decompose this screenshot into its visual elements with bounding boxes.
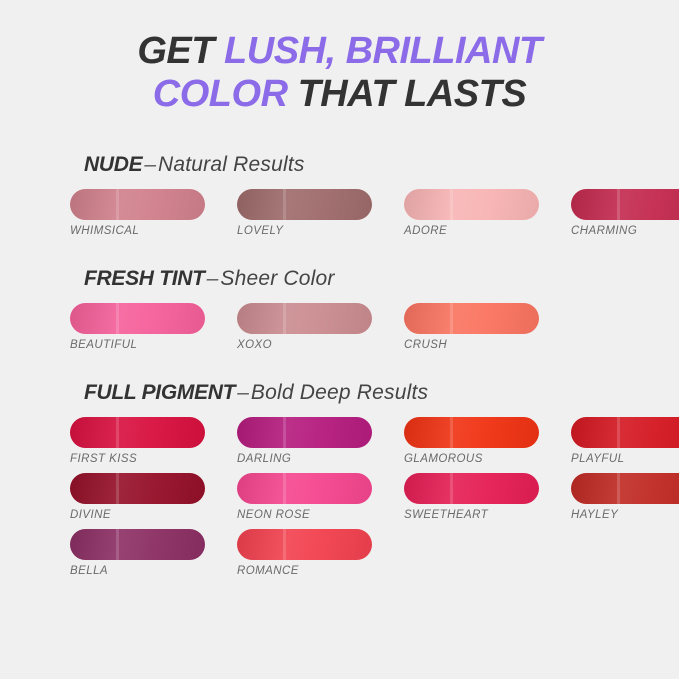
swatch-cell-divine[interactable]: DIVINE bbox=[70, 473, 205, 521]
swatch-pill[interactable] bbox=[237, 417, 372, 448]
swatch-cell-bella[interactable]: BELLA bbox=[70, 529, 205, 577]
swatch-label: XOXO bbox=[237, 339, 372, 351]
swatch-row: DIVINE NEON ROSE SWEETHEART HAYLEY bbox=[0, 473, 679, 521]
section-separator: – bbox=[142, 153, 158, 176]
lipstick-shade-chart: GET LUSH, BRILLIANT COLOR THAT LASTS NUD… bbox=[0, 0, 679, 679]
swatch-cell-whimsical[interactable]: WHIMSICAL bbox=[70, 189, 205, 237]
swatch-cell-romance[interactable]: ROMANCE bbox=[237, 529, 372, 577]
headline-get: GET bbox=[137, 30, 224, 72]
swatch-pill[interactable] bbox=[404, 189, 539, 220]
swatch-pill[interactable] bbox=[404, 303, 539, 334]
swatch-pill[interactable] bbox=[571, 473, 679, 504]
swatch-pill[interactable] bbox=[571, 189, 679, 220]
swatch-cell-lovely[interactable]: LOVELY bbox=[237, 189, 372, 237]
swatch-pill[interactable] bbox=[70, 473, 205, 504]
swatch-pill[interactable] bbox=[237, 189, 372, 220]
swatch-label: NEON ROSE bbox=[237, 509, 372, 521]
swatch-label: SWEETHEART bbox=[404, 509, 539, 521]
section-name: FULL PIGMENT bbox=[84, 381, 235, 404]
swatch-label: DARLING bbox=[237, 453, 372, 465]
swatch-row: BEAUTIFUL XOXO CRUSH bbox=[0, 303, 679, 351]
swatch-pill[interactable] bbox=[237, 303, 372, 334]
swatch-cell-crush[interactable]: CRUSH bbox=[404, 303, 539, 351]
headline-line-2: COLOR THAT LASTS bbox=[0, 73, 679, 116]
swatch-cell-first-kiss[interactable]: FIRST KISS bbox=[70, 417, 205, 465]
section-subtitle: Sheer Color bbox=[220, 267, 334, 290]
section-subtitle: Bold Deep Results bbox=[251, 381, 428, 404]
swatch-cell-hayley[interactable]: HAYLEY bbox=[571, 473, 679, 521]
page-title: GET LUSH, BRILLIANT COLOR THAT LASTS bbox=[0, 0, 679, 115]
swatch-pill[interactable] bbox=[70, 303, 205, 334]
swatch-pill[interactable] bbox=[70, 529, 205, 560]
swatch-cell-playful[interactable]: PLAYFUL bbox=[571, 417, 679, 465]
swatch-label: CHARMING bbox=[571, 225, 679, 237]
swatch-label: LOVELY bbox=[237, 225, 372, 237]
swatch-label: CRUSH bbox=[404, 339, 539, 351]
swatch-pill[interactable] bbox=[237, 473, 372, 504]
swatch-label: GLAMOROUS bbox=[404, 453, 539, 465]
headline-that-lasts: THAT LASTS bbox=[298, 73, 527, 115]
swatch-pill[interactable] bbox=[571, 417, 679, 448]
headline-color: COLOR bbox=[153, 73, 298, 115]
swatch-label: BEAUTIFUL bbox=[70, 339, 205, 351]
swatch-label: BELLA bbox=[70, 565, 205, 577]
swatch-pill[interactable] bbox=[237, 529, 372, 560]
swatch-label: ADORE bbox=[404, 225, 539, 237]
swatch-cell-xoxo[interactable]: XOXO bbox=[237, 303, 372, 351]
swatch-pill[interactable] bbox=[70, 189, 205, 220]
section-name: NUDE bbox=[84, 153, 142, 176]
swatch-label: HAYLEY bbox=[571, 509, 679, 521]
section-title-fresh-tint: FRESH TINT–Sheer Color bbox=[0, 267, 679, 291]
swatch-row: WHIMSICAL LOVELY ADORE CHARMING bbox=[0, 189, 679, 237]
swatch-cell-beautiful[interactable]: BEAUTIFUL bbox=[70, 303, 205, 351]
swatch-cell-neon-rose[interactable]: NEON ROSE bbox=[237, 473, 372, 521]
section-fresh-tint: FRESH TINT–Sheer Color BEAUTIFUL XOXO CR… bbox=[0, 267, 679, 351]
section-separator: – bbox=[235, 381, 251, 404]
section-nude: NUDE–Natural Results WHIMSICAL LOVELY AD… bbox=[0, 153, 679, 237]
swatch-label: WHIMSICAL bbox=[70, 225, 205, 237]
swatch-pill[interactable] bbox=[404, 473, 539, 504]
swatch-row: BELLA ROMANCE bbox=[0, 529, 679, 577]
section-title-nude: NUDE–Natural Results bbox=[0, 153, 679, 177]
headline-lush-brilliant: LUSH, BRILLIANT bbox=[224, 30, 542, 72]
section-full-pigment: FULL PIGMENT–Bold Deep Results FIRST KIS… bbox=[0, 381, 679, 577]
swatch-label: PLAYFUL bbox=[571, 453, 679, 465]
swatch-cell-darling[interactable]: DARLING bbox=[237, 417, 372, 465]
swatch-cell-glamorous[interactable]: GLAMOROUS bbox=[404, 417, 539, 465]
swatch-label: DIVINE bbox=[70, 509, 205, 521]
section-separator: – bbox=[205, 267, 221, 290]
section-title-full-pigment: FULL PIGMENT–Bold Deep Results bbox=[0, 381, 679, 405]
section-name: FRESH TINT bbox=[84, 267, 205, 290]
swatch-cell-adore[interactable]: ADORE bbox=[404, 189, 539, 237]
section-subtitle: Natural Results bbox=[158, 153, 305, 176]
swatch-pill[interactable] bbox=[404, 417, 539, 448]
swatch-cell-sweetheart[interactable]: SWEETHEART bbox=[404, 473, 539, 521]
headline-line-1: GET LUSH, BRILLIANT bbox=[0, 30, 679, 73]
swatch-label: FIRST KISS bbox=[70, 453, 205, 465]
swatch-pill[interactable] bbox=[70, 417, 205, 448]
swatch-cell-charming[interactable]: CHARMING bbox=[571, 189, 679, 237]
swatch-row: FIRST KISS DARLING GLAMOROUS PLAYFUL bbox=[0, 417, 679, 465]
swatch-label: ROMANCE bbox=[237, 565, 372, 577]
